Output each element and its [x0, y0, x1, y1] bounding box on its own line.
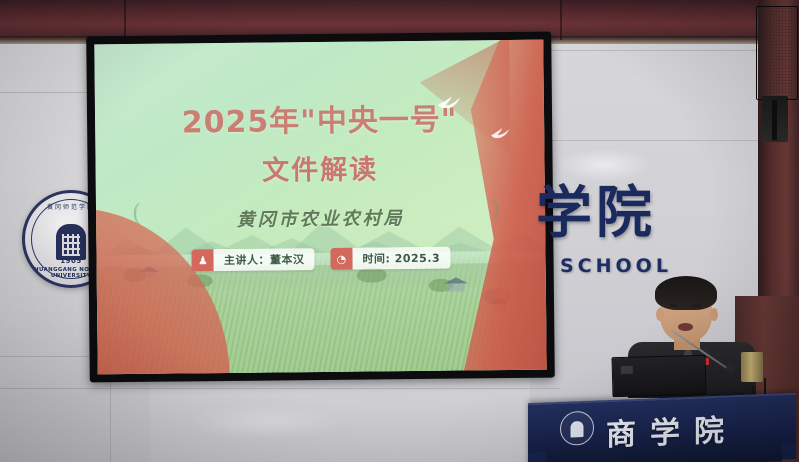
house-icon [447, 282, 465, 291]
slide-organization: 黄冈市农业农村局 [96, 203, 545, 234]
cup-icon [741, 352, 763, 382]
emblem-gate-icon [56, 224, 86, 260]
presentation-slide: 2025年"中央一号" 文件解读 ( ) 黄冈市农业农村局 ♟ 主讲人：董本汉 … [94, 40, 546, 375]
wall-seam [530, 50, 760, 51]
podium-emblem-core [571, 421, 584, 437]
wall-sign-english: SCHOOL [560, 255, 672, 277]
date-badge: ◔ 时间: 2025.3 [330, 247, 450, 270]
podium: 商学院 [528, 393, 796, 462]
presenter-mouth [678, 323, 693, 331]
wall-sign-chinese: 学院 [536, 186, 656, 242]
date-label: 时间: 2025.3 [352, 247, 450, 270]
podium-emblem-icon [560, 411, 594, 446]
presenter-badge: ♟ 主讲人：董本汉 [192, 248, 315, 271]
wall-glare [556, 148, 652, 182]
wall-seam [0, 388, 560, 389]
presenter-ear [710, 308, 718, 321]
lecture-hall-photo: 黄冈师范学院 1905 HUANGGANG NORMAL UNIVERSITY [0, 0, 799, 462]
screen-surface: 2025年"中央一号" 文件解读 ( ) 黄冈市农业农村局 ♟ 主讲人：董本汉 … [94, 40, 546, 375]
microphone-icon [726, 364, 735, 373]
wall-glare [186, 404, 346, 440]
laptop-logo [621, 366, 633, 374]
presenter-eye [669, 304, 678, 307]
slide-title-line2: 文件解读 [95, 145, 544, 189]
wall-speaker-icon [756, 6, 798, 100]
projection-screen: 2025年"中央一号" 文件解读 ( ) 黄冈市农业农村局 ♟ 主讲人：董本汉 … [86, 32, 555, 383]
laptop-icon [611, 355, 706, 397]
presenter-ear [656, 308, 664, 321]
speaker-bracket-arm [772, 100, 777, 140]
valance-seam [560, 0, 562, 40]
wall-seam [530, 140, 760, 141]
presenter-label: 主讲人：董本汉 [214, 248, 315, 271]
slide-badges: ♟ 主讲人：董本汉 ◔ 时间: 2025.3 [96, 246, 545, 273]
slide-title-line1: 2025年"中央一号" [95, 94, 544, 143]
clock-icon: ◔ [330, 248, 352, 270]
valance-seam [124, 0, 126, 40]
person-icon: ♟ [192, 249, 214, 271]
presenter-eye [692, 304, 701, 307]
presenter-hair [655, 276, 717, 310]
